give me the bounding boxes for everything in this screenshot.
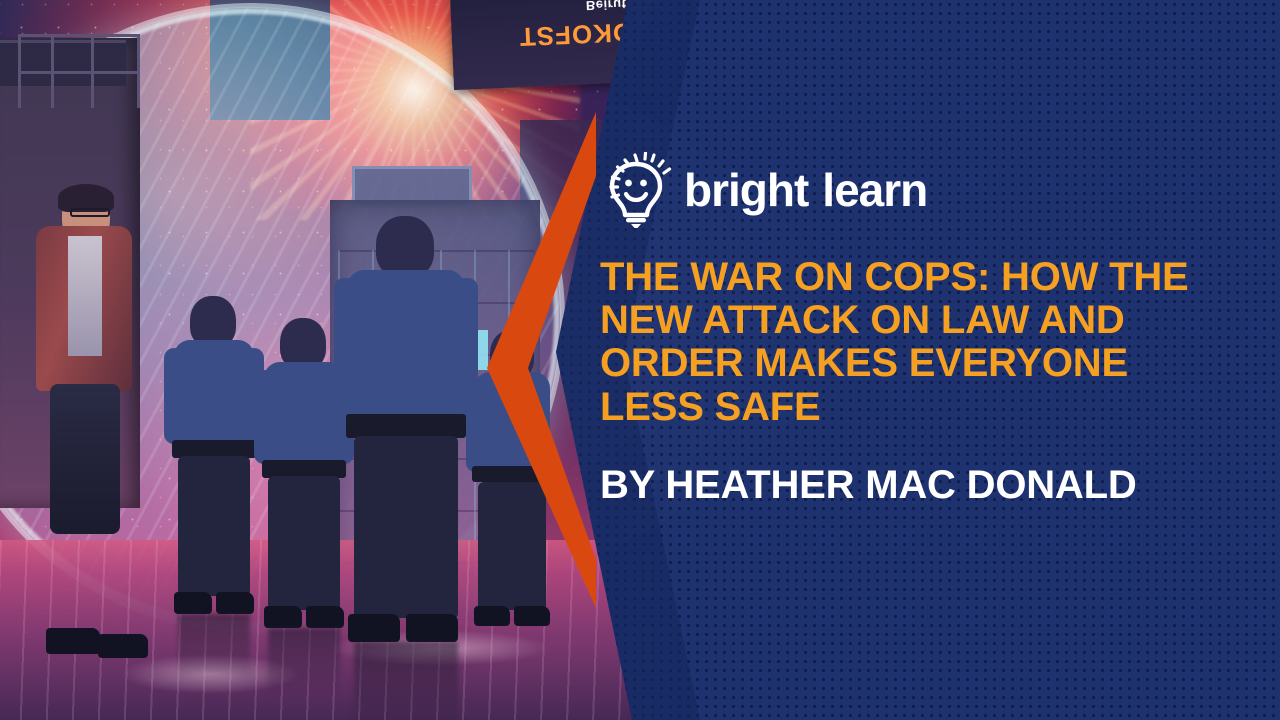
officer-boot <box>174 592 212 614</box>
lightbulb-smiley-icon <box>600 152 672 228</box>
officer-duty-belt <box>346 414 466 438</box>
card-content: brightlearn THE WAR ON COPS: HOW THE NEW… <box>600 0 1260 720</box>
officer-boot <box>474 606 510 626</box>
officer-torso <box>474 372 550 472</box>
officer-legs <box>478 482 546 610</box>
officer-head <box>376 216 434 278</box>
officer-boot <box>514 606 550 626</box>
officer-legs <box>268 476 340 610</box>
officer-boot <box>216 592 254 614</box>
police-officer-figure <box>168 296 260 626</box>
officer-reflection <box>268 628 340 696</box>
officer-torso <box>264 362 344 466</box>
officer-duty-belt <box>472 466 552 482</box>
police-officer-figure <box>470 330 556 640</box>
police-officer-figure <box>340 216 472 656</box>
rooftop-rig <box>18 34 140 108</box>
social-card: Beirut DKOFST <box>0 0 1280 720</box>
officer-torso <box>174 340 254 446</box>
officer-torso <box>348 270 464 420</box>
bright-learn-logo[interactable]: brightlearn <box>600 152 927 228</box>
officer-arm <box>466 380 484 472</box>
officer-arm <box>164 348 184 444</box>
officer-reflection <box>178 614 250 684</box>
article-byline: BY HEATHER MAC DONALD <box>600 464 1160 507</box>
brand-word-bright: bright <box>684 164 808 216</box>
officer-boot <box>348 614 400 642</box>
brand-wordmark: brightlearn <box>684 167 927 213</box>
article-headline: THE WAR ON COPS: HOW THE NEW ATTACK ON L… <box>600 256 1220 429</box>
officer-arm <box>254 370 274 464</box>
civilian-legs <box>50 384 120 534</box>
officer-legs <box>354 436 458 618</box>
civilian-boot <box>46 628 100 654</box>
officer-reflection <box>354 642 458 720</box>
officer-boot <box>306 606 344 628</box>
officer-arm <box>334 278 360 418</box>
civilian-figure <box>36 188 146 548</box>
brand-word-learn: learn <box>822 164 927 216</box>
civilian-shirt <box>68 236 102 356</box>
civilian-boot <box>98 634 148 658</box>
officer-boot <box>264 606 302 628</box>
officer-legs <box>178 456 250 596</box>
civilian-glasses <box>70 208 110 217</box>
officer-boot <box>406 614 458 642</box>
